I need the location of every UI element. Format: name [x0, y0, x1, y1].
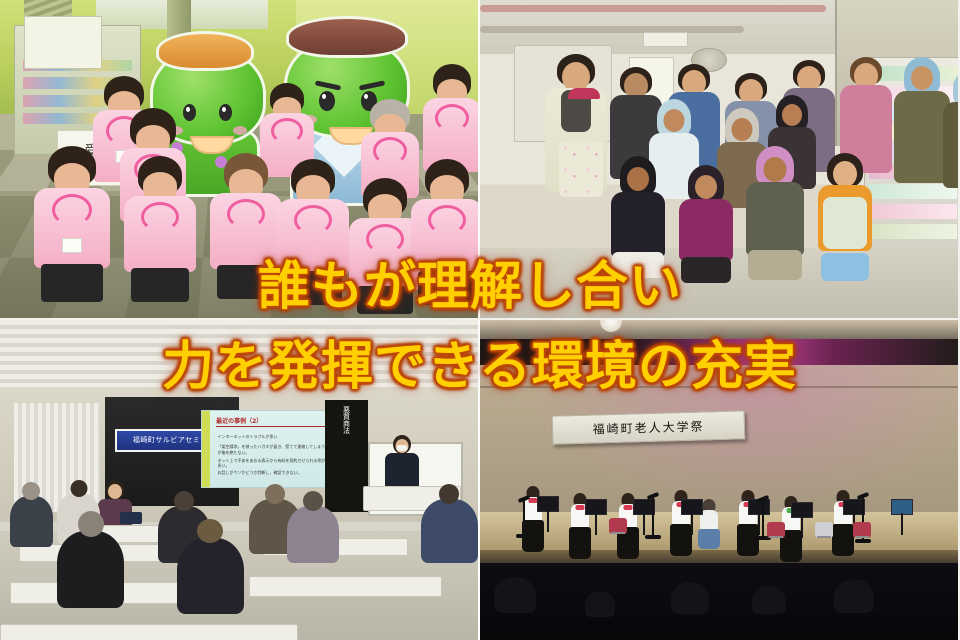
tl-wall-poster [24, 16, 102, 69]
photo-salvia-seminar: 福崎町サルビアセミナー 最近の事例（2） インターネットのトラブルが多い 「架空… [0, 320, 478, 640]
bl-slide-accent-bar [202, 411, 211, 488]
br-chair-2 [767, 522, 785, 538]
poster-collage: 受付 [0, 0, 960, 640]
photo-volunteers-with-mascots: 受付 [0, 0, 478, 318]
bl-slide-bullet-3: お話しがウソかどうか判断し、確認できない。 [218, 470, 330, 475]
bl-attendee-8 [421, 499, 478, 563]
volunteer-front-2 [120, 156, 201, 315]
tr-wall-sign [643, 32, 688, 47]
bl-desk-row-2b [249, 576, 442, 597]
person-front-purple [672, 165, 739, 311]
person-apron-leader [538, 54, 615, 251]
bl-laptop [120, 512, 142, 524]
bl-desk-row-3 [0, 624, 298, 640]
mascot-b-hat [286, 16, 408, 58]
bl-ceiling [0, 320, 478, 394]
photo-grid: 受付 [0, 0, 960, 640]
br-music-stand-2 [585, 499, 607, 515]
person-front-hijab-dark [605, 156, 672, 309]
br-music-stand-4 [681, 499, 703, 515]
br-chair-3 [815, 522, 833, 538]
tr-pipe-2 [480, 26, 744, 33]
bl-attendee-5 [287, 506, 340, 564]
br-microphone-3 [762, 499, 764, 537]
br-music-stand-1 [537, 496, 559, 512]
tr-pipe-1 [480, 5, 826, 12]
volunteer-front-6 [406, 159, 478, 318]
bl-attendee-1 [10, 496, 53, 547]
br-wall-seam [480, 386, 958, 388]
bl-slide-bullet-0: インターネットのトラブルが多い [218, 434, 278, 439]
bl-slide-title: 最近の事例（2） [216, 416, 262, 425]
bl-slide-bullet-1: 「架空請求」を装ったハガキが届き、慌てて連絡してしまう人が後を絶たない。 [218, 444, 330, 454]
br-chair-4 [853, 522, 871, 538]
br-music-stand-6 [791, 502, 813, 518]
bl-side-panel: 悪質商法 [325, 400, 368, 512]
br-audience-silhouettes [480, 563, 958, 640]
photo-senior-university-festival: 福崎町老人大学祭 [480, 320, 958, 640]
br-chair-1 [609, 518, 627, 534]
br-microphone-1 [523, 499, 525, 535]
volunteer-front-1 [29, 146, 115, 311]
bl-attendee-6 [57, 531, 124, 608]
grid-seam-horizontal [0, 318, 960, 320]
person-front-hijab-pink [739, 146, 811, 311]
bl-slide-underline [216, 426, 331, 427]
bl-slide-bullet-2: ネット上で不安をあおる表示から有料を契約させられる例が多い。 [218, 458, 330, 468]
person-front-orange [811, 153, 878, 312]
br-festival-banner-label: 福崎町老人大学祭 [592, 417, 704, 437]
bl-side-panel-label: 悪質商法 [342, 400, 352, 434]
volunteer-front-4 [272, 159, 353, 318]
photo-multicultural-group [480, 0, 960, 318]
br-music-stand-8 [891, 499, 913, 515]
person-hijab-olive [936, 70, 960, 242]
br-festival-banner: 福崎町老人大学祭 [551, 410, 745, 445]
br-microphone-2 [652, 496, 654, 536]
grid-seam-vertical [478, 0, 480, 640]
mascot-a-hat [156, 31, 254, 71]
bl-attendee-7 [177, 538, 244, 615]
